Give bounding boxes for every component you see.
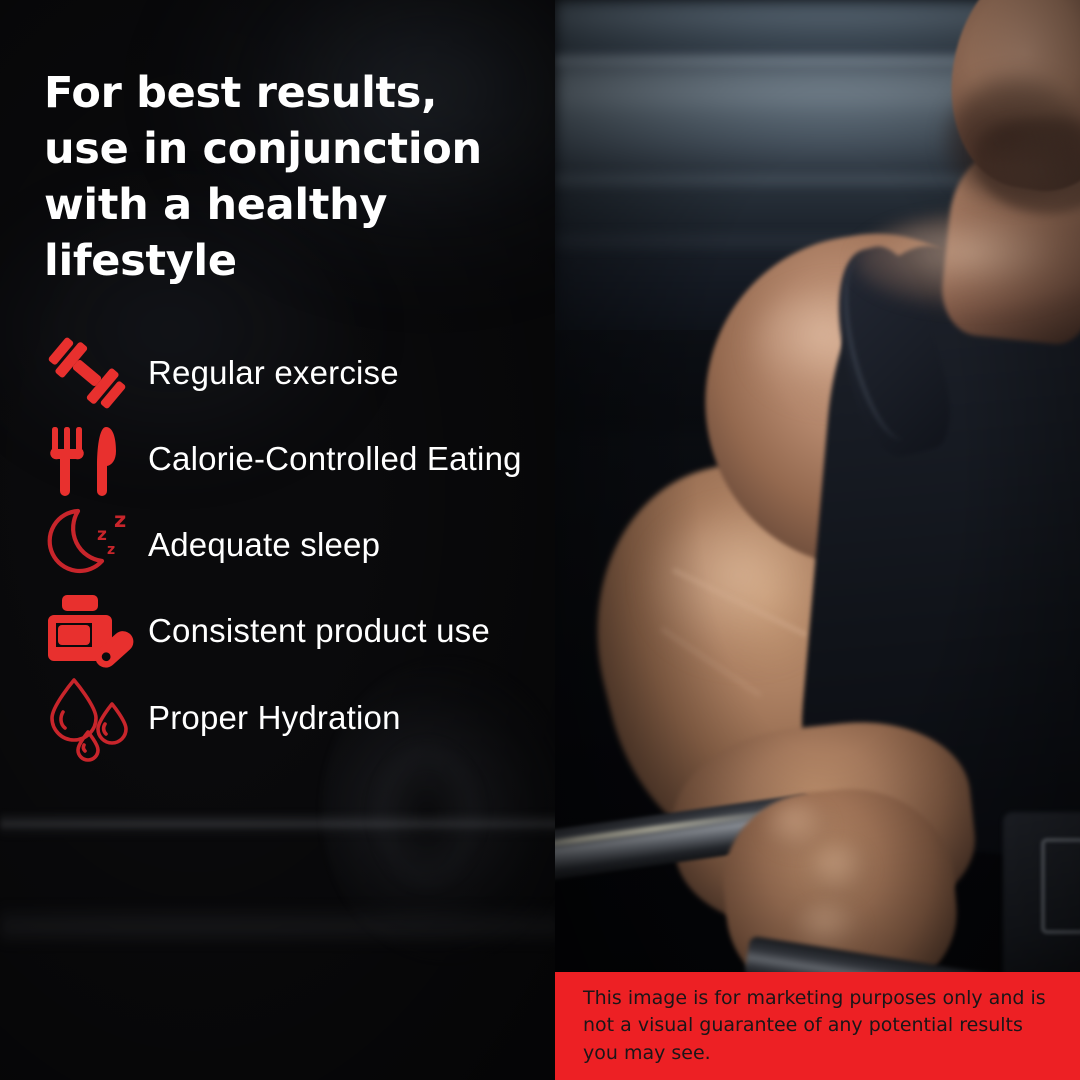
- disclaimer-banner: This image is for marketing purposes onl…: [555, 972, 1080, 1080]
- list-item-label: Regular exercise: [148, 350, 399, 397]
- list-item: Proper Hydration: [38, 674, 538, 762]
- list-item: Regular exercise: [38, 330, 538, 416]
- disclaimer-text: This image is for marketing purposes onl…: [583, 985, 1052, 1068]
- dumbbell-icon: [38, 334, 148, 412]
- list-item-label: Consistent product use: [148, 608, 490, 655]
- list-item: Consistent product use: [38, 588, 538, 674]
- list-item: Calorie-Controlled Eating: [38, 416, 538, 502]
- water-droplets-icon: [38, 674, 148, 762]
- list-item-label: Adequate sleep: [148, 522, 380, 569]
- list-item-label: Calorie-Controlled Eating: [148, 436, 522, 483]
- svg-text:z: z: [107, 542, 115, 558]
- moon-zzz-icon: z z z: [38, 503, 148, 587]
- promo-canvas: For best results, use in conjunction wit…: [0, 0, 1080, 1080]
- left-content-panel: For best results, use in conjunction wit…: [0, 0, 555, 1080]
- svg-text:z: z: [97, 525, 107, 545]
- photo-vignette: [555, 0, 1080, 1080]
- list-item: z z z Adequate sleep: [38, 502, 538, 588]
- fork-knife-icon: [38, 419, 148, 499]
- bodybuilder-photo: [555, 0, 1080, 1080]
- list-item-label: Proper Hydration: [148, 695, 401, 742]
- supplement-bottle-pill-icon: [38, 589, 148, 673]
- svg-text:z: z: [114, 508, 126, 532]
- page-title: For best results, use in conjunction wit…: [44, 66, 514, 290]
- benefits-list: Regular exercise Calorie-Controlled: [38, 330, 538, 762]
